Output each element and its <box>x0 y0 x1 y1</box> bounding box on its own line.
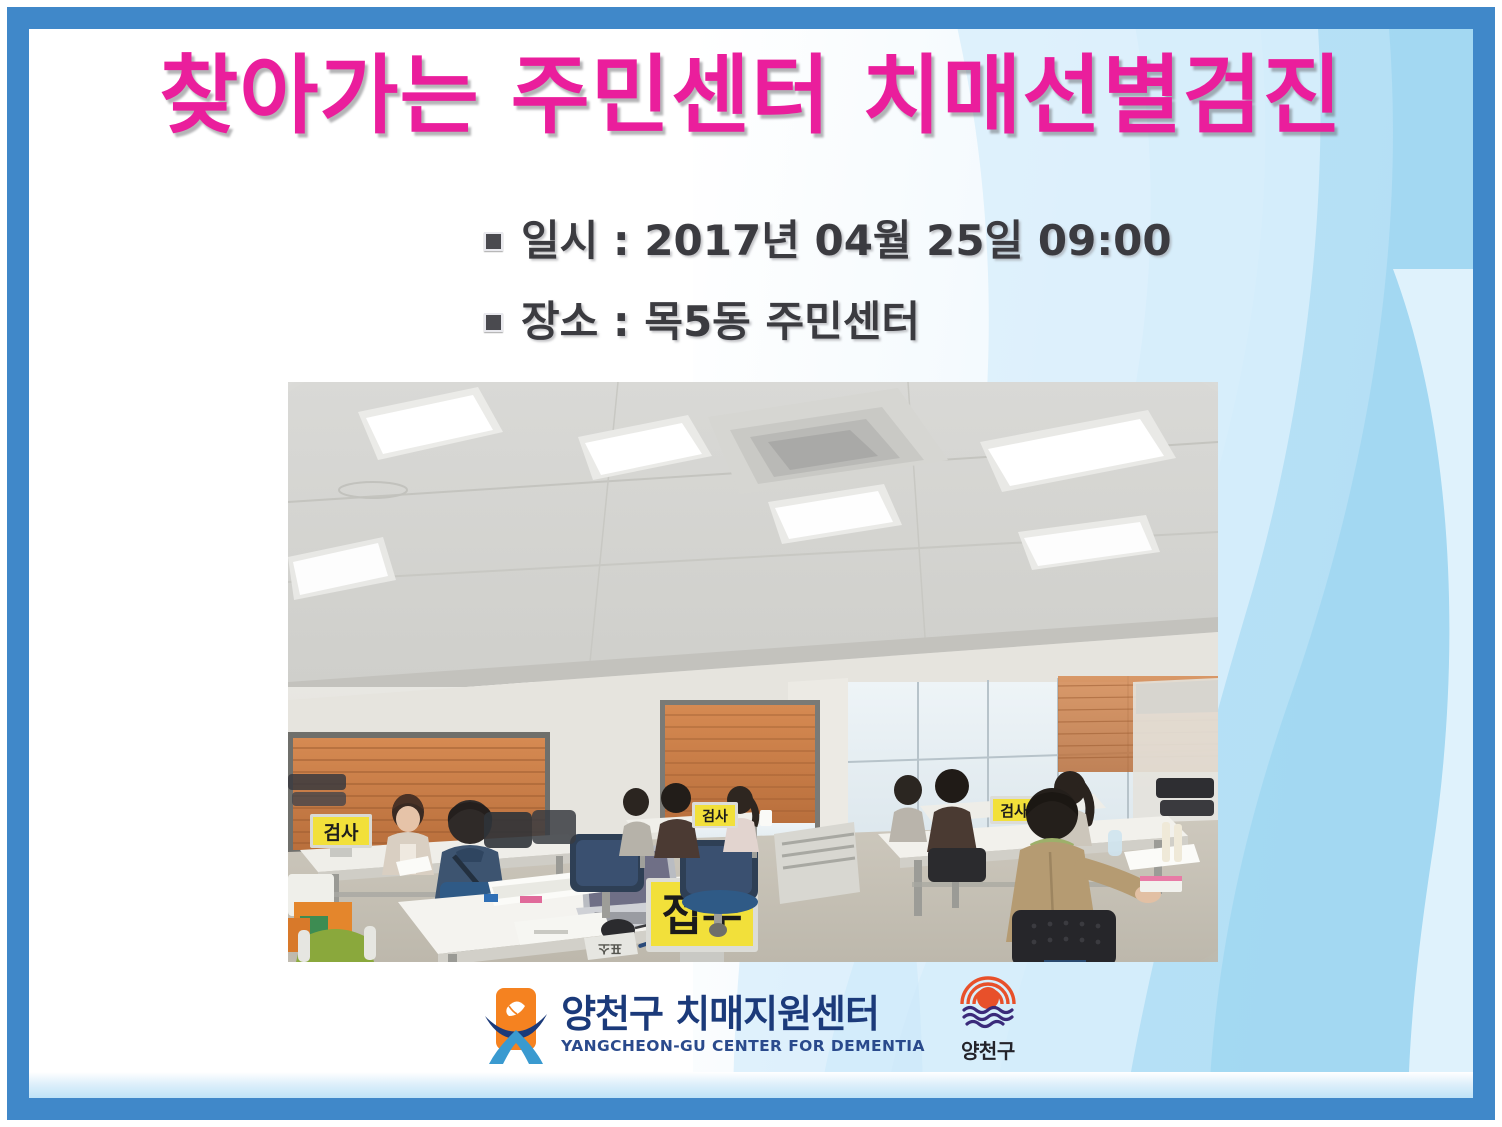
event-datetime-text: 일시 : 2017년 04월 25일 09:00 <box>521 207 1172 268</box>
event-details-list: 일시 : 2017년 04월 25일 09:00 장소 : 목5동 주민센터 <box>484 207 1172 369</box>
center-logo-text: 양천구 치매지원센터 YANGCHEON-GU CENTER FOR DEMEN… <box>561 995 925 1055</box>
square-bullet-icon <box>484 232 503 251</box>
svg-text:표소: 표소 <box>598 940 622 955</box>
slide-content-area: 찾아가는 주민센터 치매선별검진 일시 : 2017년 04월 25일 09:0… <box>29 29 1473 1098</box>
event-photo-image: 검사 <box>288 382 1218 962</box>
list-item: 장소 : 목5동 주민센터 <box>484 288 1172 349</box>
district-emblem: 양천구 <box>957 968 1019 1064</box>
page-title: 찾아가는 주민센터 치매선별검진 <box>29 51 1473 141</box>
event-location-text: 장소 : 목5동 주민센터 <box>521 288 920 349</box>
yangcheon-gu-emblem-icon <box>957 968 1019 1032</box>
district-emblem-label: 양천구 <box>961 1035 1015 1064</box>
background-bottom-band <box>29 1072 1473 1098</box>
center-english-name: YANGCHEON-GU CENTER FOR DEMENTIA <box>561 1037 925 1055</box>
footer-logos: 양천구 치매지원센터 YANGCHEON-GU CENTER FOR DEMEN… <box>29 968 1473 1064</box>
slide-canvas: 찾아가는 주민센터 치매선별검진 일시 : 2017년 04월 25일 09:0… <box>0 0 1502 1127</box>
center-korean-name: 양천구 치매지원센터 <box>561 995 925 1035</box>
list-item: 일시 : 2017년 04월 25일 09:00 <box>484 207 1172 268</box>
svg-text:검사: 검사 <box>1000 802 1028 820</box>
event-photo: 검사 <box>288 382 1218 962</box>
center-bird-logo-icon <box>483 986 549 1064</box>
svg-text:검사: 검사 <box>324 822 359 844</box>
dementia-center-logo: 양천구 치매지원센터 YANGCHEON-GU CENTER FOR DEMEN… <box>483 986 925 1064</box>
square-bullet-icon <box>484 313 503 332</box>
svg-text:검사: 검사 <box>702 808 728 825</box>
